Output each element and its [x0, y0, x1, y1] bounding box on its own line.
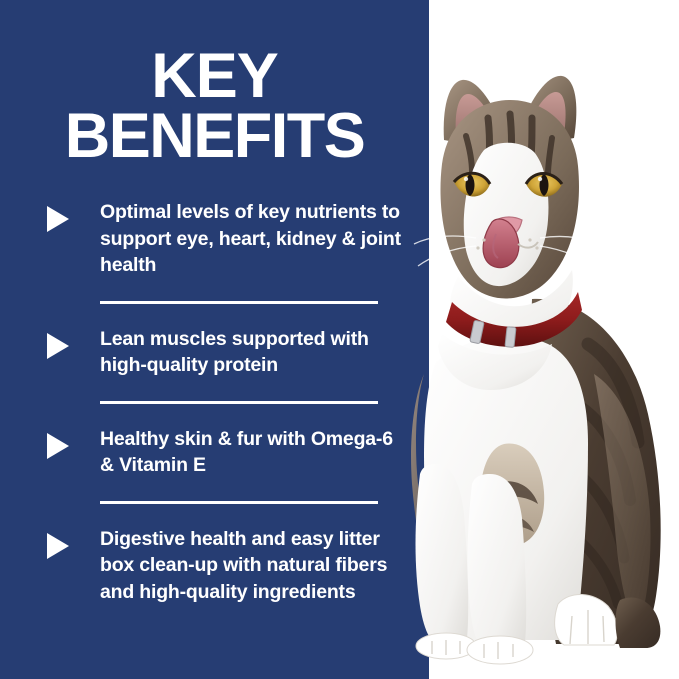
- list-item: Optimal levels of key nutrients to suppo…: [0, 199, 429, 279]
- cat-paw-center: [467, 636, 533, 664]
- triangle-right-icon: [47, 333, 69, 359]
- spacer: [0, 304, 429, 326]
- benefit-text: Healthy skin & fur with Omega-6 & Vitami…: [100, 426, 403, 479]
- list-item: Digestive health and easy litter box cle…: [0, 526, 429, 606]
- benefits-panel: KEY BENEFITS Optimal levels of key nutri…: [0, 0, 429, 679]
- spacer: [0, 404, 429, 426]
- triangle-right-icon: [47, 433, 69, 459]
- cat-leg-center: [468, 474, 527, 649]
- collar-keeper: [505, 327, 516, 348]
- title-line-key: KEY: [0, 46, 429, 106]
- triangle-right-icon: [47, 206, 69, 232]
- list-item: Healthy skin & fur with Omega-6 & Vitami…: [0, 426, 429, 479]
- spacer: [0, 379, 429, 401]
- benefit-text: Lean muscles supported with high-quality…: [100, 326, 403, 379]
- page-title: KEY BENEFITS: [0, 46, 429, 166]
- spacer: [0, 479, 429, 501]
- key-benefits-graphic: KEY BENEFITS Optimal levels of key nutri…: [0, 0, 679, 679]
- benefit-text: Optimal levels of key nutrients to suppo…: [100, 199, 403, 279]
- spacer: [0, 504, 429, 526]
- list-item: Lean muscles supported with high-quality…: [0, 326, 429, 379]
- cat-photograph: [380, 44, 679, 679]
- title-line-benefits: BENEFITS: [0, 106, 429, 166]
- triangle-right-icon: [47, 533, 69, 559]
- cat-illustration: [380, 44, 679, 679]
- benefits-list: Optimal levels of key nutrients to suppo…: [0, 199, 429, 605]
- benefit-text: Digestive health and easy litter box cle…: [100, 526, 403, 606]
- spacer: [0, 279, 429, 301]
